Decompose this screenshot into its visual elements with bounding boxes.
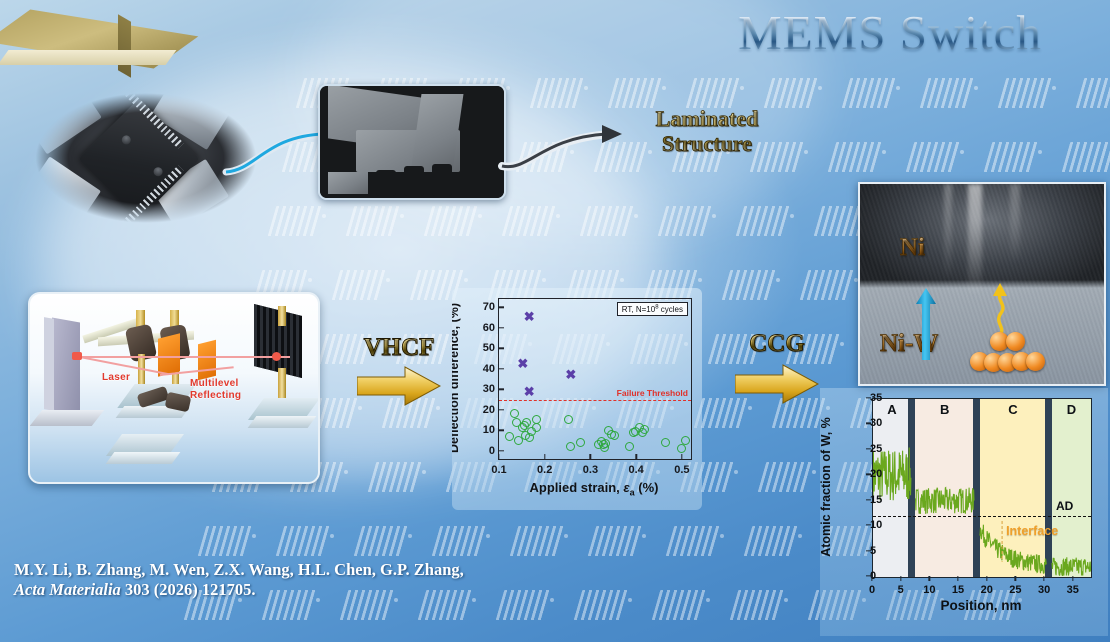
page-title: MEMS Switch [690,4,1090,61]
wafer-die [722,270,777,300]
scatter-point-survived [661,438,670,447]
wafer-dot [812,470,816,474]
y-tick-label: 20 [483,404,495,416]
interface-annotation: Interface [1006,524,1058,538]
comp-x-tick-label: 15 [952,584,964,596]
y-tick-mark [499,348,504,349]
comp-y-tick-mark [866,448,871,449]
comp-x-tick-mark [1043,576,1044,581]
wafer-dot [896,86,900,90]
comp-y-tick-mark [866,397,871,398]
y-tick-label: 10 [483,424,495,436]
x-tick-label: 0.4 [628,464,643,476]
comp-y-tick-mark [866,524,871,525]
wafer-dot [960,150,964,154]
wafer-dot [1038,150,1042,154]
wafer-dot [712,214,716,218]
wafer-die [588,526,643,556]
wafer-dot [550,598,554,602]
wafer-die [510,526,565,556]
blue-up-arrow-icon [916,288,936,360]
laser-measurement-setup-image: Laser Multilevel Reflecting [28,292,320,484]
y-tick-label: 50 [483,342,495,354]
wafer-dot [776,278,780,282]
y-tick-mark [499,307,504,308]
failure-threshold-line [499,400,691,401]
band-label: D [1067,402,1076,417]
wafer-dot [486,534,490,538]
comp-x-tick-label: 10 [923,584,935,596]
wafer-dot [628,598,632,602]
wafer-dot [798,534,802,538]
scatter-point-survived [640,425,649,434]
wafer-dot [642,534,646,538]
wafer-die [744,526,799,556]
multilevel-reflecting-label: Multilevel Reflecting [190,378,241,402]
stage-ccg-label: CCG [722,330,832,358]
stage-vhcf-label: VHCF [344,334,454,362]
comp-y-tick-mark [866,550,871,551]
scatter-point-failed: ✖ [523,311,535,323]
y-tick-label: 60 [483,322,495,334]
yellow-diffusion-arrow-icon [988,283,1012,337]
scatter-point-survived [610,431,619,440]
wafer-die [998,78,1053,108]
w-composition-profile-chart: Atomic fraction of W, % Interface ABCD A… [820,388,1108,636]
comp-x-tick-label: 25 [1009,584,1021,596]
gold-arrow-right-icon-2 [735,364,819,404]
wafer-die [652,590,707,620]
scatter-legend: RT, N=108 cycles [617,302,688,316]
scatter-point-survived [681,436,690,445]
scatter-point-survived [522,418,531,427]
x-tick-mark [498,454,499,459]
y-tick-mark [499,389,504,390]
scatter-x-axis-label: Applied strain, εa (%) [498,480,690,498]
wafer-die [1062,142,1110,172]
wafer-dot [840,342,844,346]
laser-label: Laser [102,372,130,383]
wafer-dot [564,534,568,538]
wafer-dot [974,86,978,90]
scatter-point-survived [601,439,610,448]
y-tick-label: 70 [483,301,495,313]
wafer-die [736,206,791,236]
wafer-dot [472,598,476,602]
wafer-dot [252,534,256,538]
wafer-dot [734,470,738,474]
y-tick-mark [499,450,504,451]
scatter-point-survived [576,438,585,447]
stage-vhcf: VHCF [344,334,454,411]
comp-x-tick-mark [1072,576,1073,581]
wafer-dot [330,534,334,538]
wafer-die [496,590,551,620]
scatter-plot-area: ✖✖✖✖ Failure Threshold RT, N=108 cycles … [498,298,692,460]
wafer-die [276,526,331,556]
reflect-label-line1: Multilevel [190,378,241,390]
scatter-point-survived [510,409,519,418]
wafer-dot [706,598,710,602]
x-tick-mark [590,454,591,459]
y-tick-mark [499,409,504,410]
comp-x-tick-mark [957,576,958,581]
x-tick-mark [681,454,682,459]
wafer-die [198,526,253,556]
comp-plot-area: Interface ABCD [872,398,1092,578]
deflection-vs-strain-chart: Deflection difference, (%) ✖✖✖✖ Failure … [452,288,702,510]
comp-x-tick-mark [929,576,930,581]
comp-x-tick-mark [871,576,872,581]
wafer-die [920,78,975,108]
x-tick-mark [635,454,636,459]
x-tick-label: 0.2 [537,464,552,476]
wafer-die [800,270,855,300]
comp-y-axis-label: Atomic fraction of W, % [820,417,833,557]
x-tick-label: 0.1 [491,464,506,476]
comp-x-tick-label: 5 [898,584,904,596]
comp-x-axis-label: Position, nm [872,598,1090,613]
failure-threshold-label: Failure Threshold [617,388,688,398]
citation-authors: M.Y. Li, B. Zhang, M. Wen, Z.X. Wang, H.… [14,560,464,580]
x-tick-mark [544,454,545,459]
y-tick-label: 0 [489,445,495,457]
wafer-die [730,590,785,620]
laminated-structure-label: Laminated Structure [612,106,802,156]
scatter-point-survived [564,415,573,424]
atom-sphere [1006,332,1025,351]
wafer-dot [1052,86,1056,90]
comp-x-tick-mark [900,576,901,581]
citation: M.Y. Li, B. Zhang, M. Wen, Z.X. Wang, H.… [14,560,464,600]
wafer-dot [790,214,794,218]
composition-profile-curve [873,399,1091,577]
y-tick-mark [499,327,504,328]
page-title-text: MEMS Switch [738,5,1042,60]
wafer-die [758,462,813,492]
journal-volume: 303 (2026) 121705. [121,580,256,599]
scatter-point-survived [677,444,686,453]
comp-x-tick-mark [1015,576,1016,581]
y-tick-label: 30 [483,383,495,395]
reflect-label-line2: Reflecting [190,390,241,402]
comp-x-tick-label: 20 [981,584,993,596]
wafer-die [574,590,629,620]
comp-x-tick-label: 0 [869,584,875,596]
tem-label-ni: Ni [900,234,925,262]
ad-label: AD [1056,499,1073,513]
wafer-dot [882,150,886,154]
scatter-y-axis-label: Deflection difference, (%) [452,303,461,453]
scatter-point-survived [625,442,634,451]
wafer-dot [698,278,702,282]
comp-x-tick-label: 35 [1067,584,1079,596]
gold-arrow-right-icon [357,366,441,406]
wafer-die [666,526,721,556]
scatter-point-failed: ✖ [565,369,577,381]
wafer-die [984,142,1039,172]
atom-sphere [1026,352,1045,371]
graphical-abstract: MEMS Switch Laminate [0,0,1110,642]
wafer-dot [408,534,412,538]
sem-switch-image [318,84,506,200]
band-label: A [887,402,896,417]
citation-journal: Acta Materialia 303 (2026) 121705. [14,580,464,600]
y-tick-mark [499,430,504,431]
connector-arrow-2 [494,116,624,178]
wafer-die [432,526,487,556]
wafer-die [828,142,883,172]
wafer-die [354,526,409,556]
comp-y-tick-mark [866,575,871,576]
scatter-point-failed: ✖ [517,358,529,370]
x-tick-label: 0.3 [583,464,598,476]
band-label: B [940,402,949,417]
comp-y-tick-mark [866,474,871,475]
wafer-die [906,142,961,172]
wafer-die [842,78,897,108]
scatter-point-survived [566,442,575,451]
scatter-point-survived [505,432,514,441]
scatter-point-survived [532,423,541,432]
x-tick-label: 0.5 [674,464,689,476]
wafer-dot [804,150,808,154]
scatter-point-failed: ✖ [523,386,535,398]
y-tick-label: 40 [483,363,495,375]
wafer-dot [784,598,788,602]
wafer-die [1076,78,1110,108]
comp-x-tick-mark [986,576,987,581]
comp-y-tick-mark [866,423,871,424]
laminated-label-line1: Laminated [612,106,802,131]
wafer-dot [720,534,724,538]
laminated-label-line2: Structure [612,131,802,156]
stage-ccg: CCG [722,330,832,409]
y-tick-mark [499,368,504,369]
band-label: C [1008,402,1017,417]
comp-y-tick-mark [866,499,871,500]
scatter-legend-text: RT, N=108 cycles [622,305,683,314]
journal-name: Acta Materialia [14,580,121,599]
comp-x-tick-label: 30 [1038,584,1050,596]
ad-reference-line [873,516,1091,517]
